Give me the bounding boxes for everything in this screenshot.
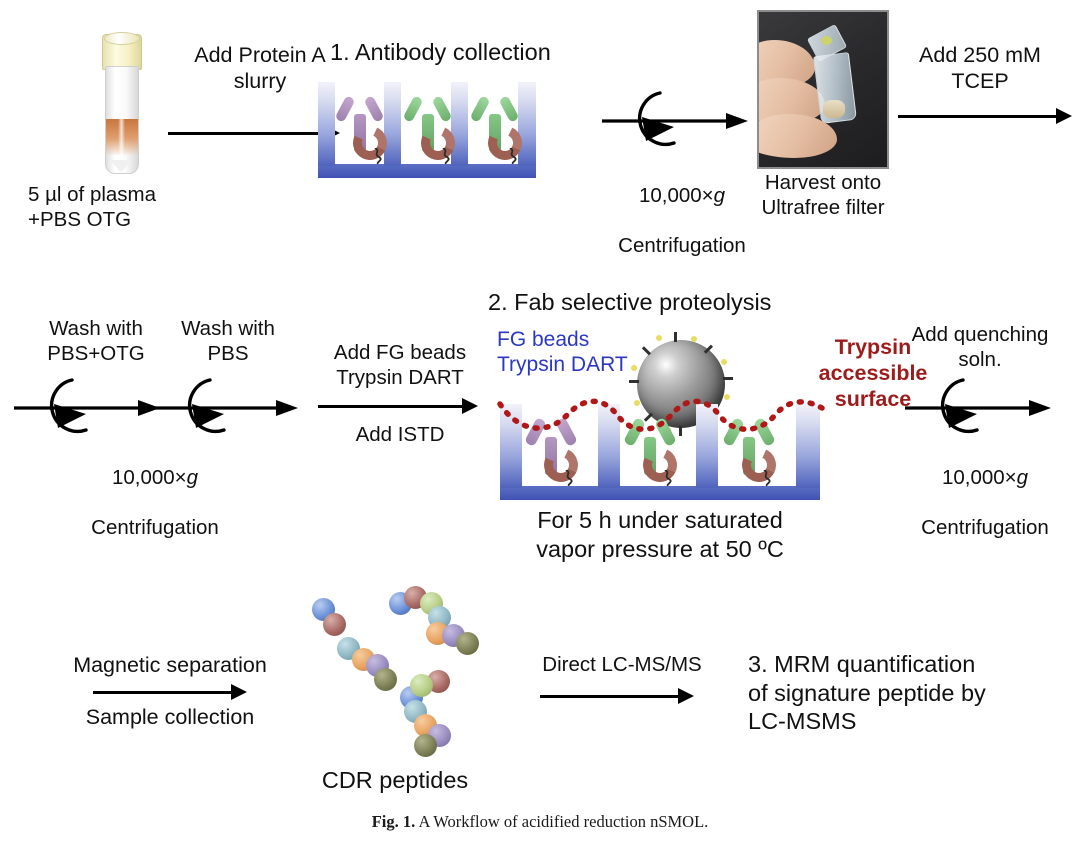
antibody-arm (498, 95, 519, 123)
centrifuge-1-label: Centrifugation (618, 234, 746, 257)
magnetic-separation-label: Magnetic separation (50, 652, 290, 678)
centrifuge-3-speed: 10,000× (942, 466, 1017, 489)
antibody-arm (431, 95, 452, 123)
arrow-direct-lcmsms (540, 688, 710, 706)
peptide-sphere (456, 632, 479, 655)
plate-base (318, 164, 536, 178)
tube-tip (110, 160, 132, 172)
linker-squiggle (563, 470, 575, 486)
linker-squiggle (761, 470, 773, 486)
centrifuge-1-speed-unit: g (714, 184, 725, 207)
incubation-label: For 5 h under saturated vapor pressure a… (470, 506, 850, 563)
bead-spike (642, 347, 651, 356)
direct-lcmsms-label: Direct LC-MS/MS (512, 652, 732, 677)
add-fg-beads-label: Add FG beads Trypsin DART (300, 340, 500, 390)
bead-ligand-dot (631, 365, 637, 371)
well-plate-antibody-collection (318, 82, 536, 178)
centrifuge-2-caption: 10,000×g Centrifugation (55, 440, 255, 540)
cdr-peptides-label: CDR peptides (280, 766, 510, 795)
figure-caption-text: A Workflow of acidified reduction nSMOL. (418, 812, 708, 831)
centrifuge-1-speed: 10,000× (639, 184, 714, 207)
linker-squiggle (372, 148, 384, 164)
plate-wall (318, 82, 335, 166)
figure-caption-label: Fig. 1. (372, 812, 416, 831)
centrifuge-3-caption: 10,000×g Centrifugation (895, 440, 1075, 540)
antibody-arm (402, 95, 423, 123)
centrifuge-2-speed: 10,000× (112, 466, 187, 489)
step1-title: 1. Antibody collection (330, 38, 630, 67)
sample-collection-label: Sample collection (50, 704, 290, 730)
add-quenching-label: Add quenching soln. (895, 322, 1065, 372)
bead-spike (674, 332, 677, 342)
vial-pellet (823, 100, 845, 118)
peptide-sphere (414, 734, 437, 757)
linker-squiggle (662, 470, 674, 486)
antibody-green (406, 94, 450, 160)
antibody-arm (334, 95, 355, 123)
harvest-photo-label: Harvest onto Ultrafree filter (738, 170, 908, 220)
step3-title: 3. MRM quantification of signature pepti… (748, 650, 1078, 736)
add-istd-label: Add ISTD (300, 422, 500, 447)
tube-body (105, 66, 139, 174)
centrifuge-2-speed-unit: g (187, 466, 198, 489)
plate-base (500, 486, 820, 500)
linker-squiggle (507, 148, 519, 164)
arrow-add-fg-beads (318, 398, 488, 416)
linker-squiggle (440, 148, 452, 164)
peptide-sphere (410, 674, 433, 697)
centrifuge-arrow-wash1 (14, 372, 164, 444)
antibody-green (473, 94, 517, 160)
harvest-photo (757, 10, 889, 169)
centrifuge-3-speed-unit: g (1017, 466, 1028, 489)
arrow-magnetic-separation (93, 684, 253, 702)
centrifuge-3-label: Centrifugation (921, 516, 1049, 539)
peptide-sphere (374, 668, 397, 691)
bead-spike (723, 377, 733, 380)
antibody-arm (469, 95, 490, 123)
bead-ligand-dot (721, 359, 727, 365)
sample-tube (98, 28, 148, 178)
bead-ligand-dot (691, 336, 697, 342)
cdr-peptides-group (296, 592, 486, 752)
trypsin-accessible-surface-curve (496, 398, 826, 454)
centrifuge-arrow-1 (602, 85, 752, 157)
bead-ligand-dot (656, 335, 662, 341)
centrifuge-arrow-quench (905, 372, 1055, 444)
centrifuge-arrow-wash2 (152, 372, 302, 444)
tube-plasma-band (106, 119, 138, 155)
wash2-label: Wash with PBS (148, 316, 308, 366)
figure-caption: Fig. 1. A Workflow of acidified reductio… (0, 812, 1080, 832)
plate-wall (384, 82, 401, 166)
plate-wall (518, 82, 536, 166)
bead-spike (629, 380, 639, 383)
arrow-add-tcep (898, 108, 1078, 126)
vial-lid-dot (821, 36, 832, 45)
plate-wall (451, 82, 468, 166)
centrifuge-2-label: Centrifugation (91, 516, 219, 539)
add-tcep-label: Add 250 mM TCEP (895, 42, 1065, 94)
tube-plasma-highlight (118, 119, 125, 155)
antibody-purple (338, 94, 382, 160)
tube-cap-rim (104, 32, 140, 45)
sample-tube-label: 5 µl of plasma +PBS OTG (28, 182, 218, 232)
step2-title: 2. Fab selective proteolysis (488, 288, 908, 317)
antibody-arm (363, 95, 384, 123)
